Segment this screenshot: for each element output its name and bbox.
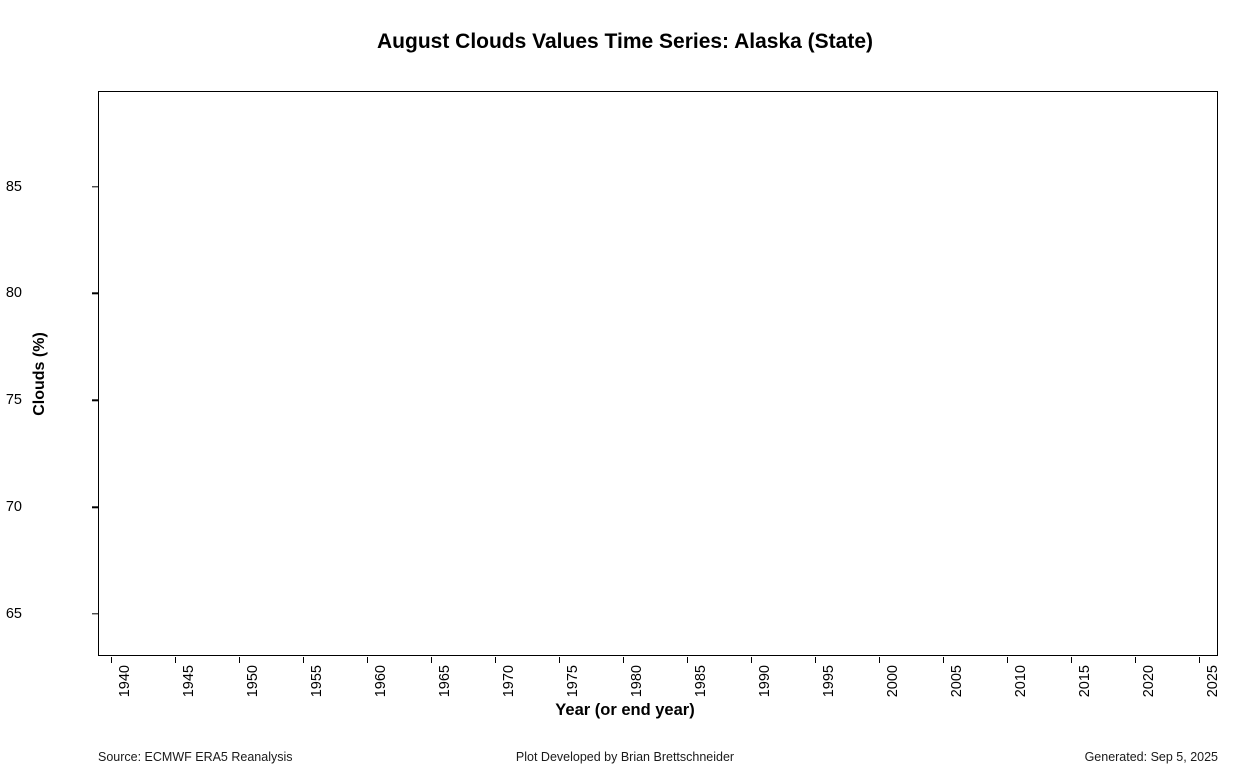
x-axis-tick-label: 1940 [117,665,133,697]
x-axis-tick-label: 2020 [1141,665,1157,697]
x-axis-tick-mark [815,657,816,663]
x-axis-tick-mark [175,657,176,663]
y-axis-tick-mark [92,613,98,614]
x-axis-tick-label: 2005 [949,665,965,697]
y-axis-tick-label: 85 [6,179,22,195]
y-axis-tick-label: 65 [6,606,22,622]
x-axis-tick-mark [879,657,880,663]
y-axis-tick-label: 80 [6,285,22,301]
x-axis-tick-label: 1995 [821,665,837,697]
x-axis-tick-label: 2025 [1205,665,1221,697]
x-axis-tick-mark [559,657,560,663]
plot-area [98,91,1218,656]
y-axis-tick-mark [92,506,98,507]
x-axis-tick-mark [239,657,240,663]
x-axis-tick-mark [111,657,112,663]
x-axis-tick-mark [751,657,752,663]
x-axis-label: Year (or end year) [0,701,1250,720]
x-axis-tick-mark [367,657,368,663]
x-axis-tick-label: 1975 [565,665,581,697]
x-axis-tick-mark [623,657,624,663]
x-axis-tick-mark [495,657,496,663]
x-axis-tick-mark [1135,657,1136,663]
x-axis-tick-label: 2010 [1013,665,1029,697]
x-axis-tick-mark [1199,657,1200,663]
footnote-generated: Generated: Sep 5, 2025 [1085,750,1218,764]
x-axis-tick-label: 1970 [501,665,517,697]
y-axis-label: Clouds (%) [31,332,49,416]
x-axis-tick-label: 1985 [693,665,709,697]
x-axis-tick-mark [431,657,432,663]
x-axis-tick-mark [303,657,304,663]
x-axis-tick-label: 1980 [629,665,645,697]
x-axis-tick-label: 2015 [1077,665,1093,697]
plot-frame [98,91,1218,656]
x-axis-tick-label: 1960 [373,665,389,697]
x-axis-tick-label: 2000 [885,665,901,697]
y-axis-tick-label: 70 [6,499,22,515]
y-axis-tick-label: 75 [6,392,22,408]
x-axis-tick-label: 1950 [245,665,261,697]
x-axis-tick-mark [1071,657,1072,663]
x-axis-tick-label: 1990 [757,665,773,697]
chart-title: August Clouds Values Time Series: Alaska… [0,30,1250,54]
x-axis-tick-label: 1945 [181,665,197,697]
x-axis-tick-label: 1965 [437,665,453,697]
y-axis-tick-mark [92,293,98,294]
footnote-author: Plot Developed by Brian Brettschneider [0,750,1250,764]
x-axis-tick-mark [687,657,688,663]
x-axis-tick-mark [943,657,944,663]
x-axis-tick-mark [1007,657,1008,663]
y-axis-tick-mark [92,186,98,187]
y-axis-tick-mark [92,400,98,401]
x-axis-tick-label: 1955 [309,665,325,697]
